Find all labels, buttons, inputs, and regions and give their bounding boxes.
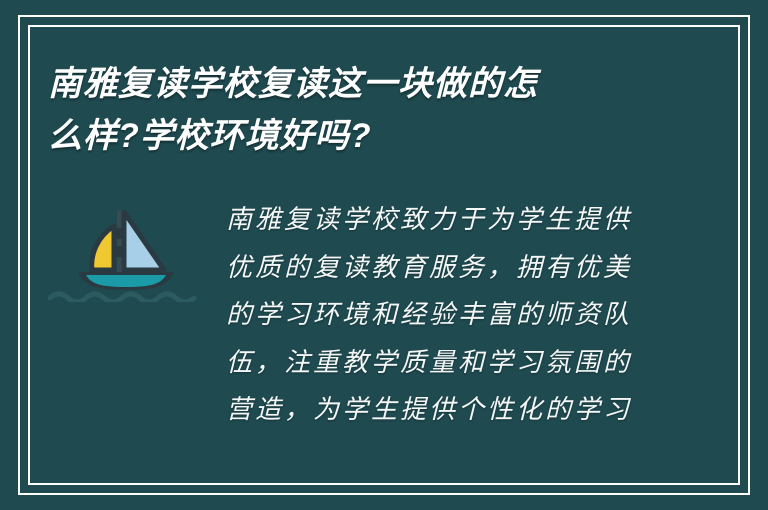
page-title: 南雅复读学校复读这一块做的怎 么样?学校环境好吗? [48, 58, 668, 162]
page-title-line-2: 么样?学校环境好吗? [48, 110, 668, 162]
body-line-4: 伍，注重教学质量和学习氛围的 [226, 339, 722, 387]
frame-cut-bottom-left [0, 496, 20, 510]
body-line-2: 优质的复读教育服务，拥有优美 [226, 244, 722, 292]
body-paragraph: 南雅复读学校致力于为学生提供 优质的复读教育服务，拥有优美 的学习环境和经验丰富… [216, 196, 722, 434]
sailboat-illustration [46, 196, 216, 302]
sailboat-icon [46, 202, 206, 302]
poster-canvas: 南雅复读学校复读这一块做的怎 么样?学校环境好吗? [0, 0, 768, 510]
page-title-line-1: 南雅复读学校复读这一块做的怎 [48, 58, 668, 110]
body-line-3: 的学习环境和经验丰富的师资队 [226, 291, 722, 339]
content-row: 南雅复读学校致力于为学生提供 优质的复读教育服务，拥有优美 的学习环境和经验丰富… [46, 196, 722, 434]
body-line-1: 南雅复读学校致力于为学生提供 [226, 196, 722, 244]
body-line-5: 营造，为学生提供个性化的学习 [226, 386, 722, 434]
frame-cut-top-right [748, 0, 768, 14]
